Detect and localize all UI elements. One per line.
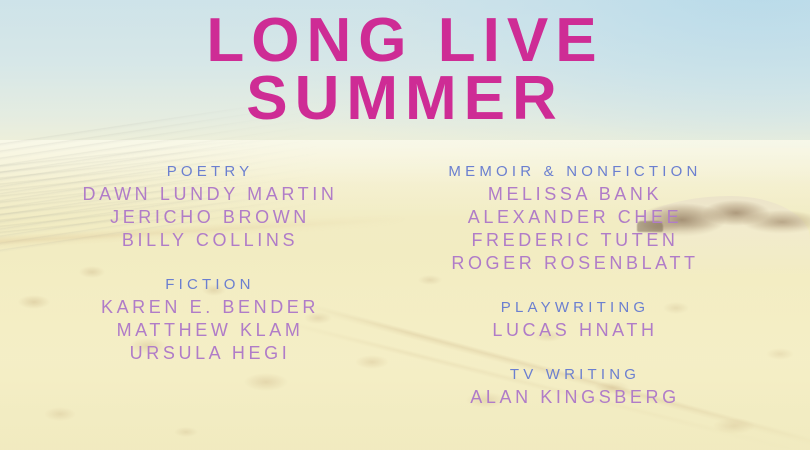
section-heading: TV WRITING: [395, 363, 755, 386]
title-line-1: LONG LIVE: [0, 12, 810, 70]
poster: LONG LIVE SUMMER POETRY DAWN LUNDY MARTI…: [0, 0, 810, 450]
author-name: JERICHO BROWN: [30, 206, 390, 229]
section-heading: FICTION: [30, 273, 390, 296]
poster-content: LONG LIVE SUMMER POETRY DAWN LUNDY MARTI…: [0, 0, 810, 450]
author-name: URSULA HEGI: [30, 342, 390, 365]
section-memoir-nonfiction: MEMOIR & NONFICTION MELISSA BANK ALEXAND…: [395, 160, 755, 275]
section-heading: MEMOIR & NONFICTION: [395, 160, 755, 183]
author-name: DAWN LUNDY MARTIN: [30, 183, 390, 206]
title-line-2: SUMMER: [0, 70, 810, 128]
section-playwriting: PLAYWRITING LUCAS HNATH: [395, 296, 755, 342]
author-name: FREDERIC TUTEN: [395, 229, 755, 252]
column-left: POETRY DAWN LUNDY MARTIN JERICHO BROWN B…: [30, 160, 390, 365]
section-heading: POETRY: [30, 160, 390, 183]
section-poetry: POETRY DAWN LUNDY MARTIN JERICHO BROWN B…: [30, 160, 390, 252]
author-name: ROGER ROSENBLATT: [395, 252, 755, 275]
column-right: MEMOIR & NONFICTION MELISSA BANK ALEXAND…: [395, 160, 755, 409]
section-tv-writing: TV WRITING ALAN KINGSBERG: [395, 363, 755, 409]
author-name: KAREN E. BENDER: [30, 296, 390, 319]
section-heading: PLAYWRITING: [395, 296, 755, 319]
poster-title: LONG LIVE SUMMER: [0, 12, 810, 128]
author-name: MATTHEW KLAM: [30, 319, 390, 342]
author-name: ALAN KINGSBERG: [395, 386, 755, 409]
author-name: ALEXANDER CHEE: [395, 206, 755, 229]
author-name: MELISSA BANK: [395, 183, 755, 206]
section-fiction: FICTION KAREN E. BENDER MATTHEW KLAM URS…: [30, 273, 390, 365]
author-name: LUCAS HNATH: [395, 319, 755, 342]
author-name: BILLY COLLINS: [30, 229, 390, 252]
